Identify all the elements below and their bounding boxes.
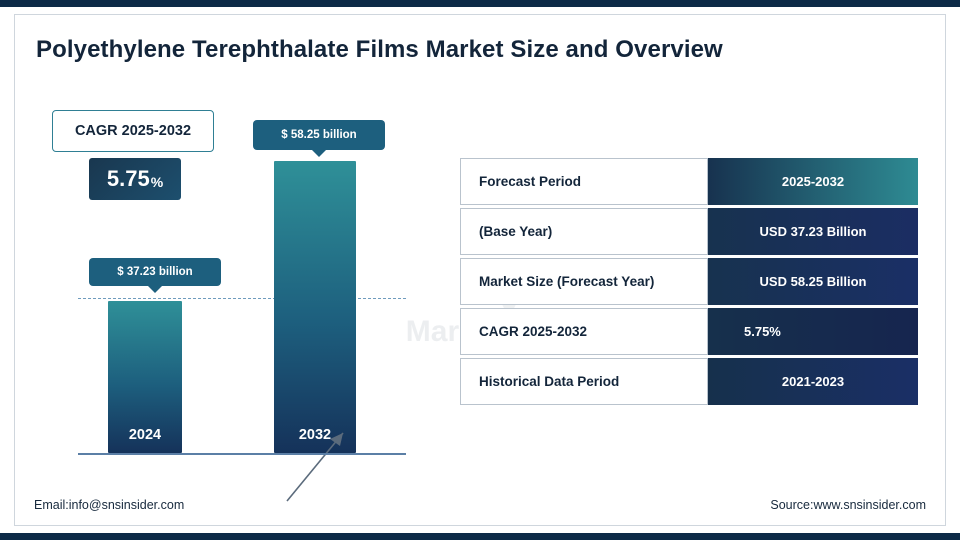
footer-source: Source:www.snsinsider.com [770,498,926,512]
bar-chart: 2024 2032 [78,120,408,455]
bar-category-label-2024: 2024 [108,427,182,443]
table-cell-value: USD 37.23 Billion [708,208,918,255]
reference-line [78,298,406,299]
slide-canvas: ▼ Market Reports Polyethylene Terephthal… [0,0,960,540]
page-title: Polyethylene Terephthalate Films Market … [36,36,723,64]
summary-table: Forecast Period 2025-2032 (Base Year) US… [460,158,918,408]
table-row: CAGR 2025-2032 5.75% [460,308,918,355]
top-rule [0,0,960,7]
value-callout-2032: $ 58.25 billion [253,120,385,150]
table-cell-label: Historical Data Period [460,358,708,405]
table-cell-label: CAGR 2025-2032 [460,308,708,355]
table-row: (Base Year) USD 37.23 Billion [460,208,918,255]
value-callout-2032-text: $ 58.25 billion [281,129,356,141]
table-cell-label: (Base Year) [460,208,708,255]
x-axis [78,453,406,455]
table-row: Market Size (Forecast Year) USD 58.25 Bi… [460,258,918,305]
table-cell-value: 2025-2032 [708,158,918,205]
footer-email: Email:info@snsinsider.com [34,498,184,512]
bottom-rule [0,533,960,540]
table-row: Historical Data Period 2021-2023 [460,358,918,405]
table-cell-value: 2021-2023 [708,358,918,405]
table-cell-value: 5.75% [708,308,918,355]
table-cell-label: Forecast Period [460,158,708,205]
table-row: Forecast Period 2025-2032 [460,158,918,205]
table-cell-value: USD 58.25 Billion [708,258,918,305]
value-callout-2024-text: $ 37.23 billion [117,266,192,278]
growth-arrow-icon [283,425,353,505]
bar-2032 [274,161,356,453]
value-callout-2024: $ 37.23 billion [89,258,221,286]
table-cell-label: Market Size (Forecast Year) [460,258,708,305]
